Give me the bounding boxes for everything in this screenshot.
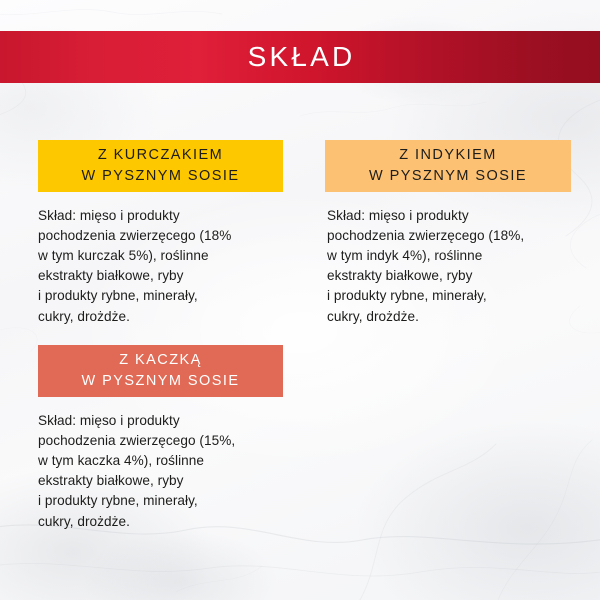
product-name-line2: W PYSZNYM SOSIE: [369, 166, 527, 187]
product-label-chicken: Z KURCZAKIEM W PYSZNYM SOSIE: [38, 140, 283, 192]
product-name-line2: W PYSZNYM SOSIE: [82, 371, 240, 392]
ingredients-text-turkey: Skład: mięso i produkty pochodzenia zwie…: [325, 206, 571, 327]
product-name-line1: Z KACZKĄ: [119, 350, 202, 371]
product-block-duck: Z KACZKĄ W PYSZNYM SOSIE Skład: mięso i …: [38, 345, 283, 532]
ingredients-text-duck: Skład: mięso i produkty pochodzenia zwie…: [38, 411, 283, 532]
product-label-turkey: Z INDYKIEM W PYSZNYM SOSIE: [325, 140, 571, 192]
product-label-duck: Z KACZKĄ W PYSZNYM SOSIE: [38, 345, 283, 397]
product-name-line1: Z KURCZAKIEM: [98, 145, 223, 166]
page-title: SKŁAD: [245, 43, 356, 71]
product-name-line1: Z INDYKIEM: [399, 145, 496, 166]
product-block-turkey: Z INDYKIEM W PYSZNYM SOSIE Skład: mięso …: [325, 140, 571, 327]
composition-infographic: SKŁAD Z KURCZAKIEM W PYSZNYM SOSIE Skład…: [0, 0, 600, 600]
ingredients-text-chicken: Skład: mięso i produkty pochodzenia zwie…: [38, 206, 283, 327]
product-block-chicken: Z KURCZAKIEM W PYSZNYM SOSIE Skład: mięs…: [38, 140, 283, 327]
header-banner: SKŁAD: [0, 31, 600, 83]
product-name-line2: W PYSZNYM SOSIE: [82, 166, 240, 187]
